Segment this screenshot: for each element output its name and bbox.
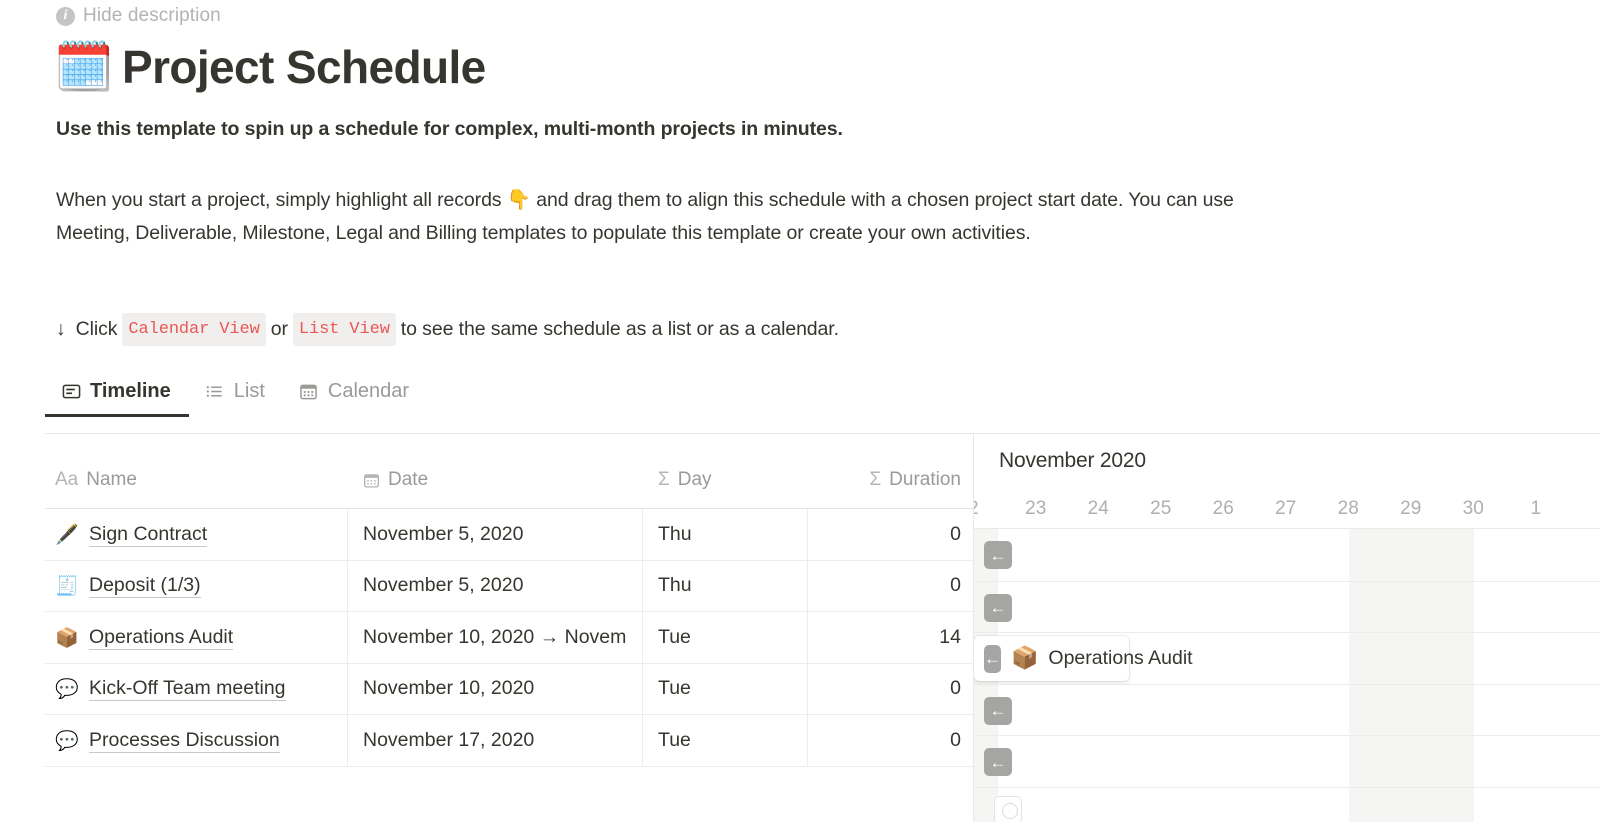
row-name-link[interactable]: Kick-Off Team meeting	[89, 676, 286, 701]
timeline-day-header: 2 23 24 25 26 27 28 29 30 1	[974, 489, 1600, 528]
sigma-icon: Σ	[869, 469, 881, 491]
hide-description-label: Hide description	[83, 5, 221, 27]
cell-date-text: November 5, 2020	[363, 574, 523, 597]
cell-day-text: Tue	[658, 626, 691, 649]
list-icon	[205, 382, 225, 402]
click-word: Click	[76, 315, 118, 344]
timeline-row-partial[interactable]	[974, 787, 1600, 822]
package-icon: 📦	[55, 626, 79, 649]
cell-name[interactable]: 🖋️ Sign Contract	[45, 509, 348, 561]
tab-timeline[interactable]: Timeline	[45, 380, 189, 417]
timeline-day: 27	[1255, 489, 1318, 528]
description-click-line: ↓ Click Calendar View or List View to se…	[56, 313, 839, 346]
sigma-icon: Σ	[658, 469, 670, 491]
calendar-icon	[299, 382, 319, 402]
timeline-card-operations-audit[interactable]: ← 📦 Operations Audit	[974, 636, 1129, 681]
timeline-row[interactable]: ← 📦 Operations Audit	[974, 632, 1600, 684]
timeline-row[interactable]: ←	[974, 529, 1600, 581]
cell-duration-text: 0	[950, 677, 961, 700]
description-paragraph: When you start a project, simply highlig…	[56, 183, 1266, 250]
table-row-partial[interactable]	[45, 766, 973, 818]
cell-date-text: November 10, 2020	[363, 677, 534, 700]
row-name-link[interactable]: Processes Discussion	[89, 728, 280, 753]
cell-day[interactable]: Tue	[643, 612, 808, 664]
timeline-day: 26	[1192, 489, 1255, 528]
timeline-day: 2	[973, 489, 1005, 528]
cell-duration-text: 0	[950, 574, 961, 597]
scroll-back-button[interactable]: ←	[984, 697, 1012, 725]
code-chip-list-view: List View	[293, 313, 396, 346]
column-header-duration[interactable]: Σ Duration	[808, 469, 973, 508]
hide-description-button[interactable]: i Hide description	[56, 5, 221, 27]
column-header-duration-label: Duration	[889, 469, 961, 491]
timeline-icon	[61, 382, 81, 402]
cell-day-text: Tue	[658, 677, 691, 700]
cell-name[interactable]: 📦 Operations Audit	[45, 612, 348, 664]
timeline-row[interactable]: ←	[974, 735, 1600, 787]
timeline-day: 23	[1005, 489, 1068, 528]
timeline-card-label: Operations Audit	[1048, 647, 1192, 670]
row-name-link[interactable]: Sign Contract	[89, 522, 207, 547]
column-header-date[interactable]: Date	[348, 469, 643, 508]
cell-date[interactable]: November 5, 2020	[348, 560, 643, 612]
cell-date-text: November 5, 2020	[363, 523, 523, 546]
scroll-back-button[interactable]: ←	[984, 541, 1012, 569]
cell-duration-text: 0	[950, 729, 961, 752]
timeline-day: 30	[1442, 489, 1505, 528]
tab-calendar[interactable]: Calendar	[283, 380, 427, 417]
calendar-icon	[363, 472, 380, 489]
code-chip-calendar-view: Calendar View	[122, 313, 265, 346]
row-name-link[interactable]: Deposit (1/3)	[89, 573, 201, 598]
speech-icon: 💬	[55, 729, 79, 752]
timeline-day: 1	[1505, 489, 1568, 528]
column-header-day[interactable]: Σ Day	[643, 469, 808, 508]
pen-icon: 🖋️	[55, 523, 79, 546]
scroll-back-button[interactable]: ←	[984, 748, 1012, 776]
cell-duration[interactable]: 0	[808, 715, 973, 767]
text-type-icon: Aa	[55, 469, 78, 491]
cell-name[interactable]: 💬 Processes Discussion	[45, 715, 348, 767]
timeline-day: 25	[1130, 489, 1193, 528]
cell-day-text: Thu	[658, 574, 692, 597]
cell-day[interactable]: Tue	[643, 663, 808, 715]
point-down-icon: 👇	[507, 188, 531, 211]
cell-date[interactable]: November 5, 2020	[348, 509, 643, 561]
cell-duration-text: 14	[939, 626, 961, 649]
cell-duration[interactable]: 0	[808, 663, 973, 715]
scroll-back-button[interactable]: ←	[984, 594, 1012, 622]
cell-duration[interactable]: 14	[808, 612, 973, 664]
schedule-table: Aa Name Date Σ Day Σ Duration 🖋️ Sign C	[45, 434, 973, 817]
table-row[interactable]: 🖋️ Sign Contract November 5, 2020 Thu 0	[45, 508, 973, 560]
timeline-month-label: November 2020	[999, 449, 1146, 473]
cell-date[interactable]: November 10, 2020	[348, 663, 643, 715]
timeline-day: 28	[1317, 489, 1380, 528]
description-part1: When you start a project, simply highlig…	[56, 189, 507, 211]
cell-date[interactable]: November 17, 2020	[348, 715, 643, 767]
column-header-name[interactable]: Aa Name	[45, 469, 348, 508]
cell-duration[interactable]: 0	[808, 560, 973, 612]
column-header-name-label: Name	[86, 469, 137, 491]
page-title: Project Schedule	[122, 42, 486, 93]
row-name-link[interactable]: Operations Audit	[89, 625, 233, 650]
cell-day[interactable]: Thu	[643, 560, 808, 612]
calendar-emoji-icon: 🗓️	[54, 43, 106, 91]
timeline-day: 29	[1380, 489, 1443, 528]
tab-calendar-label: Calendar	[328, 380, 409, 403]
timeline-body: ← ← ← 📦 Operations Audit ← ←	[974, 529, 1600, 822]
tab-list[interactable]: List	[189, 380, 283, 417]
speech-icon: 💬	[55, 677, 79, 700]
cell-day-text: Thu	[658, 523, 692, 546]
tab-timeline-label: Timeline	[90, 380, 171, 403]
timeline-panel: November 2020 2 23 24 25 26 27 28 29 30 …	[973, 434, 1600, 822]
page-title-row: 🗓️ Project Schedule	[54, 42, 486, 93]
cell-day[interactable]: Tue	[643, 715, 808, 767]
view-tabs: Timeline List Calendar	[45, 380, 427, 417]
cell-name[interactable]: 🧾 Deposit (1/3)	[45, 560, 348, 612]
cell-date[interactable]: November 10, 2020 → Novem	[348, 612, 643, 664]
cell-day[interactable]: Thu	[643, 509, 808, 561]
timeline-row[interactable]: ←	[974, 581, 1600, 633]
info-icon: i	[56, 7, 75, 26]
arrow-down-icon: ↓	[56, 315, 66, 344]
column-header-day-label: Day	[678, 469, 712, 491]
cell-day-text: Tue	[658, 729, 691, 752]
cell-duration-text: 0	[950, 523, 961, 546]
timeline-row[interactable]: ←	[974, 684, 1600, 736]
scroll-back-button[interactable]: ←	[984, 645, 1001, 673]
timeline-day: 24	[1067, 489, 1130, 528]
table-row[interactable]: 🧾 Deposit (1/3) November 5, 2020 Thu 0	[45, 560, 973, 612]
click-tail: to see the same schedule as a list or as…	[401, 315, 839, 344]
cell-duration[interactable]: 0	[808, 509, 973, 561]
package-icon: 📦	[1011, 646, 1038, 671]
click-or: or	[271, 315, 288, 344]
table-row[interactable]: 💬 Processes Discussion November 17, 2020…	[45, 714, 973, 766]
cell-date-text: November 10, 2020 → Novem	[363, 626, 626, 649]
table-row[interactable]: 💬 Kick-Off Team meeting November 10, 202…	[45, 663, 973, 715]
tab-list-label: List	[234, 380, 265, 403]
add-record-placeholder[interactable]	[994, 796, 1022, 822]
project-schedule-page: i Hide description 🗓️ Project Schedule U…	[0, 0, 1600, 822]
table-header-row: Aa Name Date Σ Day Σ Duration	[45, 434, 973, 508]
cell-date-text: November 17, 2020	[363, 729, 534, 752]
table-row[interactable]: 📦 Operations Audit November 10, 2020 → N…	[45, 611, 973, 663]
receipt-icon: 🧾	[55, 574, 79, 597]
column-header-date-label: Date	[388, 469, 428, 491]
description-bold-line: Use this template to spin up a schedule …	[56, 118, 843, 141]
cell-name[interactable]: 💬 Kick-Off Team meeting	[45, 663, 348, 715]
